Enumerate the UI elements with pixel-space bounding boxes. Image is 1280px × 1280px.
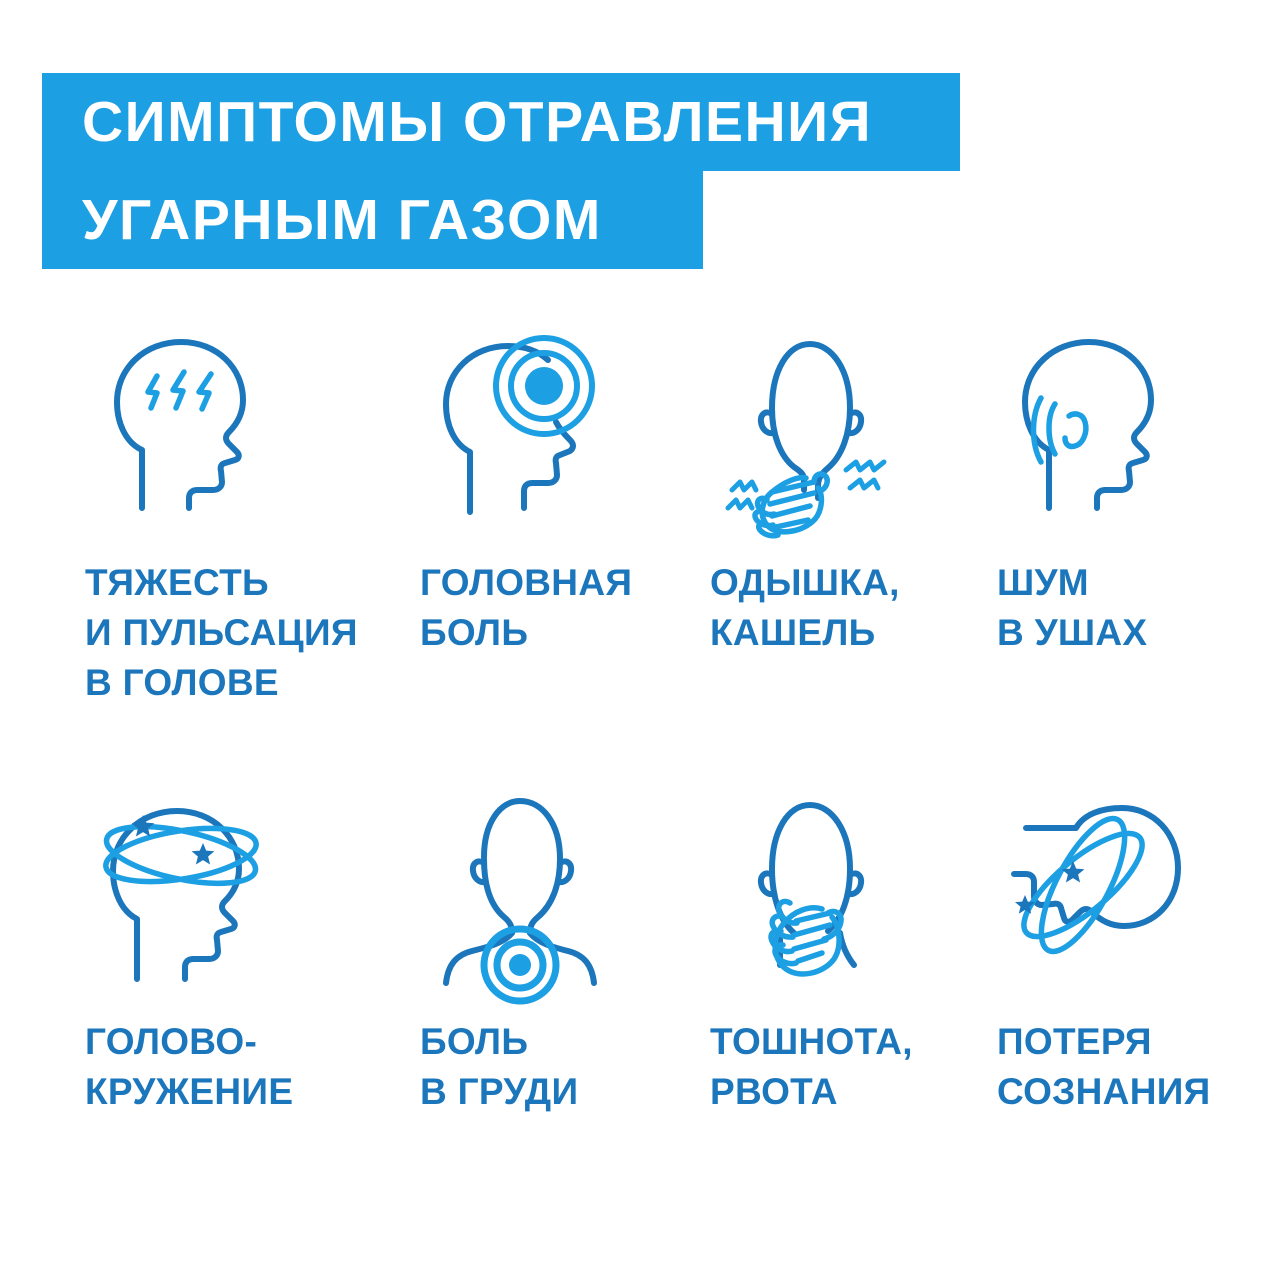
symptom-card-nausea-vomiting: ТОШНОТА, РВОТА bbox=[667, 785, 967, 1225]
symptom-row-1: ТЯЖЕСТЬ И ПУЛЬСАЦИЯ В ГОЛОВЕ ГОЛОВНАЯ БО… bbox=[0, 330, 1280, 770]
symptom-grid: ТЯЖЕСТЬ И ПУЛЬСАЦИЯ В ГОЛОВЕ ГОЛОВНАЯ БО… bbox=[0, 330, 1280, 1225]
head-lying-orbits-stars-icon bbox=[997, 793, 1217, 1018]
torso-front-chest-target-icon bbox=[420, 793, 640, 1018]
symptom-caption: ПОТЕРЯ СОЗНАНИЯ bbox=[997, 1017, 1280, 1117]
page-title-line-2: УГАРНЫМ ГАЗОМ bbox=[42, 171, 703, 269]
symptom-card-loss-of-consciousness: ПОТЕРЯ СОЗНАНИЯ bbox=[954, 785, 1254, 1225]
symptom-card-shortness-of-breath-cough: ОДЫШКА, КАШЕЛЬ bbox=[667, 330, 967, 770]
head-profile-ear-soundwaves-icon bbox=[997, 330, 1217, 555]
symptom-caption: ГОЛОВО- КРУЖЕНИЕ bbox=[85, 1017, 385, 1117]
symptom-card-chest-pain: БОЛЬ В ГРУДИ bbox=[377, 785, 677, 1225]
symptom-card-dizziness: ГОЛОВО- КРУЖЕНИЕ bbox=[42, 785, 342, 1225]
symptom-caption: ТЯЖЕСТЬ И ПУЛЬСАЦИЯ В ГОЛОВЕ bbox=[85, 558, 385, 708]
symptom-caption: ШУМ В УШАХ bbox=[997, 558, 1280, 658]
symptom-card-heaviness-pulsation-head: ТЯЖЕСТЬ И ПУЛЬСАЦИЯ В ГОЛОВЕ bbox=[42, 330, 342, 770]
head-profile-lightning-icon bbox=[85, 330, 305, 555]
symptom-card-headache: ГОЛОВНАЯ БОЛЬ bbox=[377, 330, 677, 770]
page-title-line-1: СИМПТОМЫ ОТРАВЛЕНИЯ bbox=[42, 73, 960, 171]
head-front-hand-throat-icon bbox=[710, 330, 930, 555]
symptom-card-ringing-in-ears: ШУМ В УШАХ bbox=[954, 330, 1254, 770]
title-block: СИМПТОМЫ ОТРАВЛЕНИЯ УГАРНЫМ ГАЗОМ bbox=[42, 73, 960, 269]
head-profile-orbits-stars-icon bbox=[85, 793, 305, 1018]
head-front-hand-mouth-icon bbox=[710, 793, 930, 1018]
symptom-row-2: ГОЛОВО- КРУЖЕНИЕ БО bbox=[0, 785, 1280, 1225]
head-profile-pain-target-icon bbox=[420, 330, 640, 555]
